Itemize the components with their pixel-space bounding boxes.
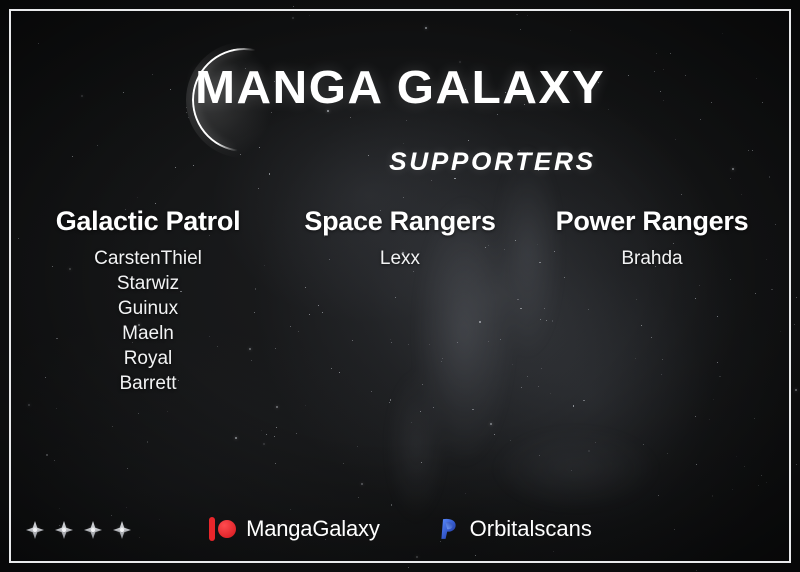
mangagalaxy-logo-icon — [208, 516, 238, 542]
poster-title-block: MANGA GALAXY SUPPORTERS — [0, 64, 800, 110]
tier-title: Power Rangers — [526, 206, 778, 237]
brand-orbitalscans[interactable]: Orbitalscans — [436, 516, 592, 542]
page-subtitle: SUPPORTERS — [0, 148, 800, 177]
list-item: Lexx — [274, 246, 526, 271]
brand-mangagalaxy-label: MangaGalaxy — [246, 516, 380, 542]
mangagalaxy-logo-dot — [218, 520, 236, 538]
brand-orbitalscans-label: Orbitalscans — [470, 516, 592, 542]
brand-logos: MangaGalaxy — [18, 516, 782, 542]
list-item: Barrett — [22, 371, 274, 396]
star-core — [62, 528, 66, 532]
brand-mangagalaxy[interactable]: MangaGalaxy — [208, 516, 380, 542]
supporter-tier-column: Power RangersBrahda — [526, 206, 778, 396]
poster-footer: MangaGalaxy — [18, 512, 782, 558]
poster-header: MANGA GALAXY SUPPORTERS — [0, 22, 800, 132]
list-item: CarstenThiel — [22, 246, 274, 271]
orbitalscans-logo-icon — [436, 516, 462, 542]
page-title: MANGA GALAXY — [195, 64, 605, 110]
supporter-tier-column: Galactic PatrolCarstenThielStarwizGuinux… — [22, 206, 274, 396]
tier-title: Space Rangers — [274, 206, 526, 237]
star-core — [120, 528, 124, 532]
list-item: Royal — [22, 346, 274, 371]
tier-supporter-list: Brahda — [526, 246, 778, 271]
list-item: Brahda — [526, 246, 778, 271]
list-item: Maeln — [22, 321, 274, 346]
supporter-tiers: Galactic PatrolCarstenThielStarwizGuinux… — [22, 206, 778, 396]
tier-supporter-list: CarstenThielStarwizGuinuxMaelnRoyalBarre… — [22, 246, 274, 396]
supporter-tier-column: Space RangersLexx — [274, 206, 526, 396]
tier-title: Galactic Patrol — [22, 206, 274, 237]
supporters-poster: MANGA GALAXY SUPPORTERS Galactic PatrolC… — [0, 0, 800, 572]
list-item: Guinux — [22, 296, 274, 321]
star-core — [91, 528, 95, 532]
tier-supporter-list: Lexx — [274, 246, 526, 271]
page-subtitle-text: SUPPORTERS — [389, 148, 596, 177]
star-core — [33, 528, 37, 532]
list-item: Starwiz — [22, 271, 274, 296]
mangagalaxy-logo-bar — [209, 517, 215, 541]
